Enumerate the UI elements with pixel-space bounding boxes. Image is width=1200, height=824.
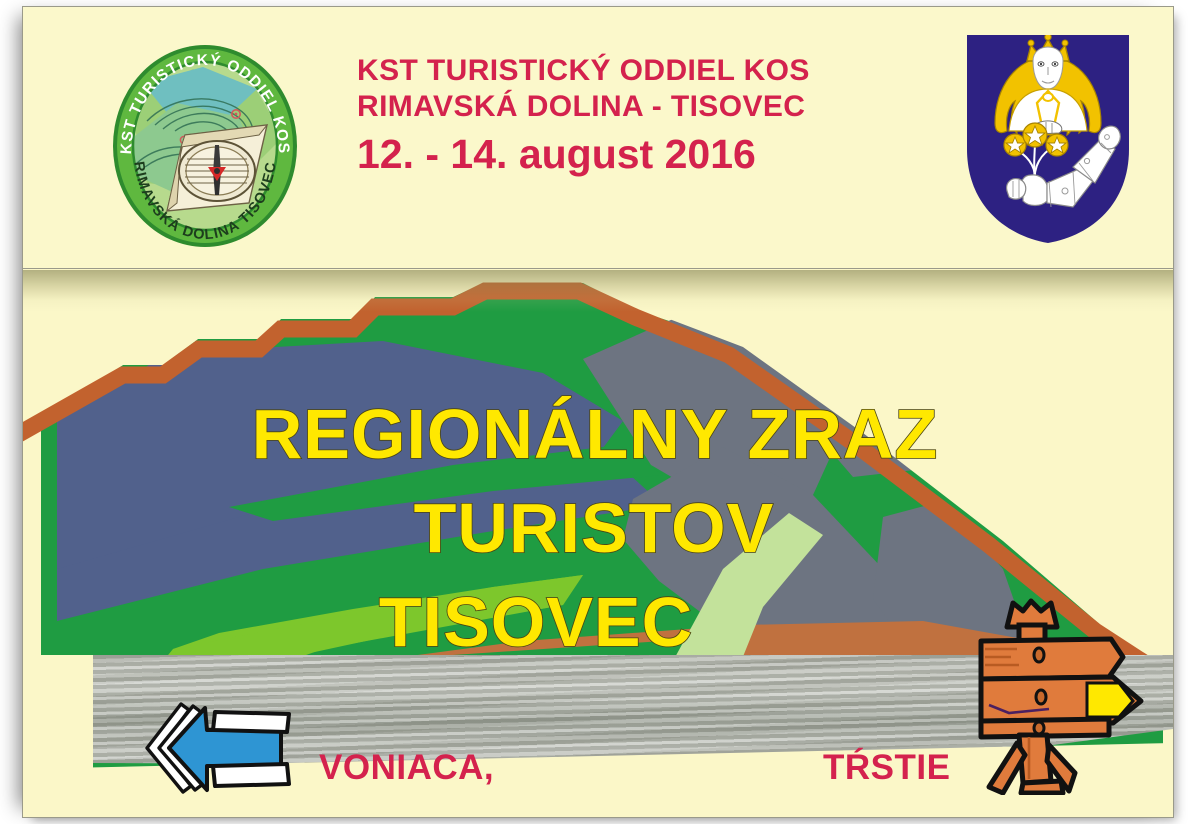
place-label-right: TŔSTIE	[823, 748, 950, 788]
poster-canvas: KST TURISTICKÝ ODDIEL KOS RIMAVSKÁ DOLIN…	[22, 6, 1174, 818]
place-label-left: VONIACA,	[319, 748, 494, 788]
org-name-line-1: KST TURISTICKÝ ODDIEL KOS	[357, 53, 917, 89]
arrow-left-icon	[135, 702, 295, 794]
header-band: KST TURISTICKÝ ODDIEL KOS RIMAVSKÁ DOLIN…	[23, 7, 1173, 269]
wooden-signpost-icon	[963, 595, 1153, 795]
tisovec-coat-of-arms	[961, 31, 1135, 247]
kst-club-emblem: KST TURISTICKÝ ODDIEL KOS RIMAVSKÁ DOLIN…	[107, 43, 303, 249]
event-date: 12. - 14. august 2016	[357, 128, 917, 180]
org-name-line-2: RIMAVSKÁ DOLINA - TISOVEC	[357, 89, 917, 125]
header-title-block: KST TURISTICKÝ ODDIEL KOS RIMAVSKÁ DOLIN…	[357, 53, 917, 180]
